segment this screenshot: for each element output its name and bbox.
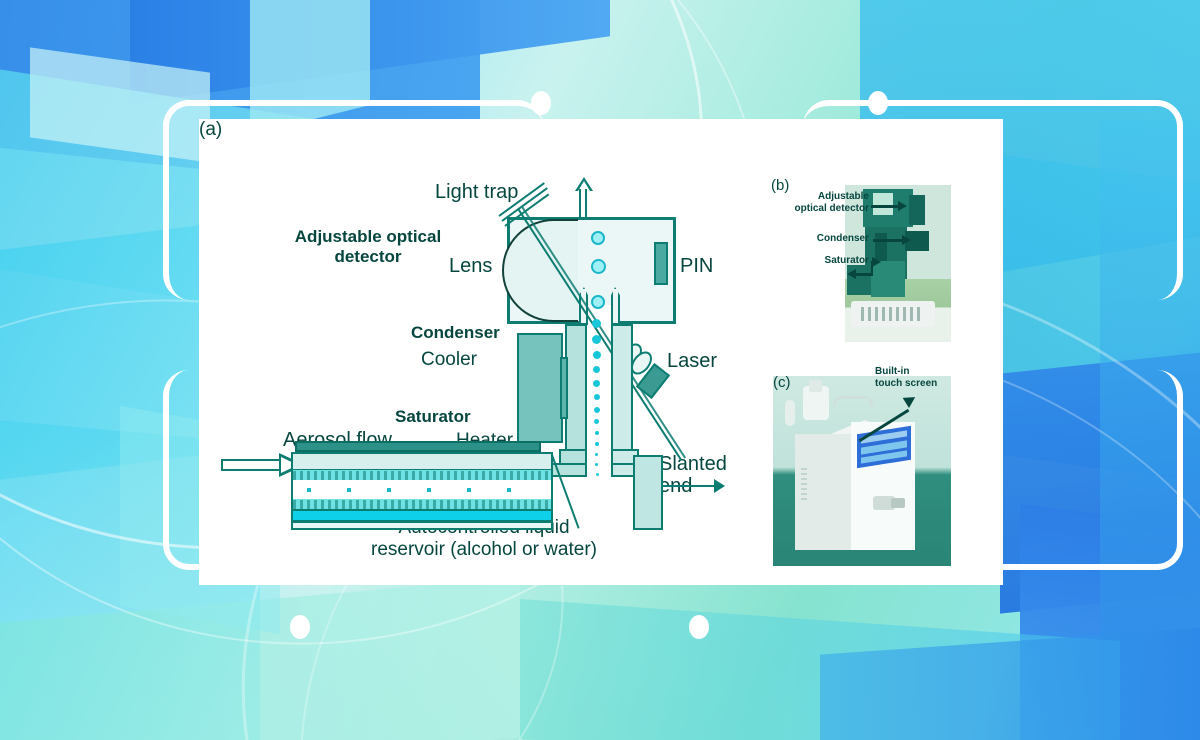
droplet [593, 366, 600, 373]
label-adjustable-optical-detector: Adjustable optical detector [273, 227, 463, 266]
panel-c-photo [773, 376, 951, 566]
droplet [594, 407, 600, 413]
frame-dot [689, 615, 709, 639]
droplet [591, 231, 605, 245]
pin-detector [654, 242, 668, 285]
droplet [596, 473, 599, 476]
label-cooler: Cooler [421, 349, 477, 371]
label-saturator: Saturator [395, 407, 471, 427]
panel-b-arrow-detector [871, 205, 899, 208]
panel-b: (b) Adjustable optical detector Condense… [771, 177, 951, 342]
droplet [594, 419, 599, 424]
saturator-channel [291, 452, 553, 471]
panel-c-tag: (c) [773, 374, 791, 391]
droplet [592, 319, 601, 328]
panel-b-arrow-saturator [855, 273, 873, 276]
panel-b-arrow-condenser [873, 239, 903, 242]
label-pin: PIN [680, 255, 713, 278]
slanted-end-block [633, 455, 663, 530]
droplet [593, 380, 600, 387]
light-trap-arrow-icon [576, 177, 592, 221]
slanted-end-arrow-icon [663, 485, 715, 487]
slide-canvas: (a) Adjustable optical detector Light tr… [0, 0, 1200, 740]
frame-dot [290, 615, 310, 639]
droplet [595, 442, 599, 446]
droplet [591, 295, 605, 309]
figure-card: (a) Adjustable optical detector Light tr… [199, 119, 1003, 585]
heater-bar [295, 441, 541, 452]
cooler-contact-tab [560, 357, 568, 419]
panel-b-annotation-detector: Adjustable optical detector [773, 191, 869, 214]
droplet [593, 351, 601, 359]
droplet [595, 463, 598, 466]
label-light-trap: Light trap [435, 181, 518, 204]
reservoir-base [291, 521, 553, 530]
droplet [591, 259, 606, 274]
label-laser: Laser [667, 350, 717, 373]
cooler-block [517, 333, 563, 443]
panel-b-annotation-saturator: Saturator [779, 255, 869, 267]
droplet [594, 394, 600, 400]
label-condenser: Condenser [411, 323, 500, 343]
aerosol-particle-row [299, 490, 539, 491]
panel-c: (c) Built-in touch screen [771, 362, 951, 567]
panel-b-arrow-saturator-v [871, 261, 873, 273]
droplet [595, 453, 598, 456]
droplet [592, 335, 601, 344]
frame-dot [868, 91, 888, 115]
panel-a: (a) Adjustable optical detector Light tr… [199, 119, 759, 585]
frame-dot [531, 91, 551, 115]
droplet [595, 431, 599, 435]
panel-a-tag: (a) [199, 119, 222, 140]
panel-b-annotation-condenser: Condenser [779, 233, 869, 245]
label-lens: Lens [449, 255, 492, 278]
panel-c-annotation-touchscreen: Built-in touch screen [875, 366, 955, 389]
